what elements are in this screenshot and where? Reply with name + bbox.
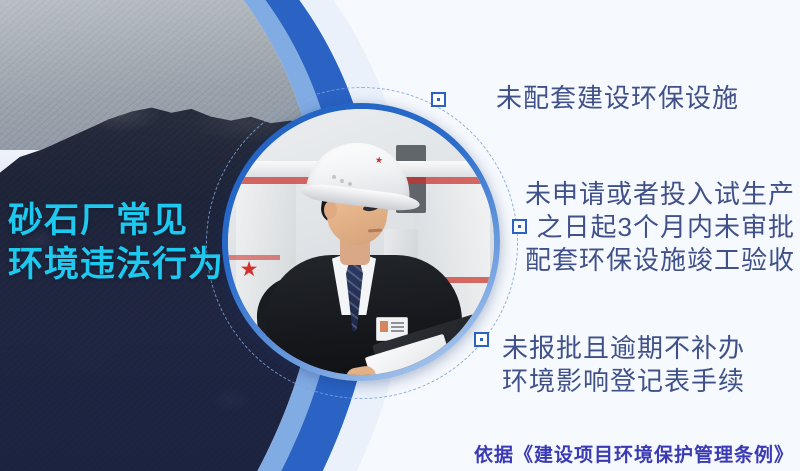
hard-hat-vent xyxy=(348,182,352,186)
poster-title: 砂石厂常见 环境违法行为 xyxy=(8,199,224,287)
square-bullet-icon-1 xyxy=(431,92,446,107)
portrait-photo: ★ ★ ★ ★ xyxy=(228,109,494,375)
title-line-2: 环境违法行为 xyxy=(8,243,224,287)
legal-basis-footer: 依据《建设项目环境保护管理条例》 xyxy=(474,440,794,467)
red-star-icon: ★ xyxy=(238,259,260,281)
violation-item-3-line-1: 未报批且逾期不补办 xyxy=(502,332,745,365)
violation-item-1-line-1: 未配套建设环保设施 xyxy=(496,82,739,115)
person-ear xyxy=(324,201,337,219)
poster-canvas: 砂石厂常见 环境违法行为 ★ ★ ★ xyxy=(0,0,800,471)
violation-item-2-line-1: 未申请或者投入试生产 xyxy=(525,178,795,211)
violation-item-2-line-3: 配套环保设施竣工验收 xyxy=(525,244,795,277)
violation-item-2-line-2: 之日起3个月内未审批 xyxy=(525,211,795,244)
hard-hat-vent xyxy=(340,179,344,183)
hard-hat-logo: ★ xyxy=(367,152,391,169)
portrait-circle: ★ ★ ★ ★ xyxy=(222,103,500,381)
square-bullet-icon-2 xyxy=(512,219,527,234)
violation-item-3-line-2: 环境影响登记表手续 xyxy=(502,365,745,398)
title-line-1: 砂石厂常见 xyxy=(8,199,224,243)
violation-item-3: 未报批且逾期不补办 环境影响登记表手续 xyxy=(502,332,745,398)
violation-item-1: 未配套建设环保设施 xyxy=(496,82,739,115)
hard-hat-vent xyxy=(332,175,336,179)
square-bullet-icon-3 xyxy=(474,332,489,347)
violation-item-2: 未申请或者投入试生产 之日起3个月内未审批 配套环保设施竣工验收 xyxy=(525,178,795,277)
